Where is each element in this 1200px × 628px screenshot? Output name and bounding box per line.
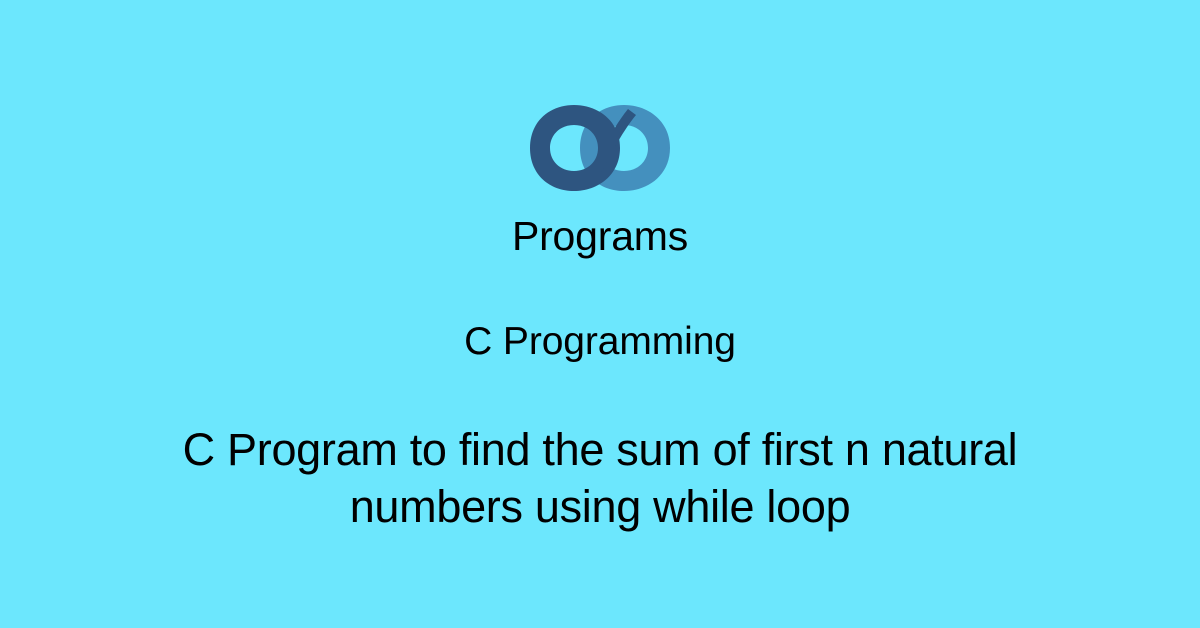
infinity-loop-logo xyxy=(524,103,676,193)
article-title: C Program to find the sum of first n nat… xyxy=(0,421,1200,535)
site-name: Programs xyxy=(0,212,1200,260)
infinity-loop-icon xyxy=(524,103,676,193)
article-title-line-2: numbers using while loop xyxy=(60,478,1140,535)
social-preview-card: Programs C Programming C Program to find… xyxy=(0,0,1200,628)
category-label: C Programming xyxy=(0,318,1200,365)
article-title-line-1: C Program to find the sum of first n nat… xyxy=(60,421,1140,478)
